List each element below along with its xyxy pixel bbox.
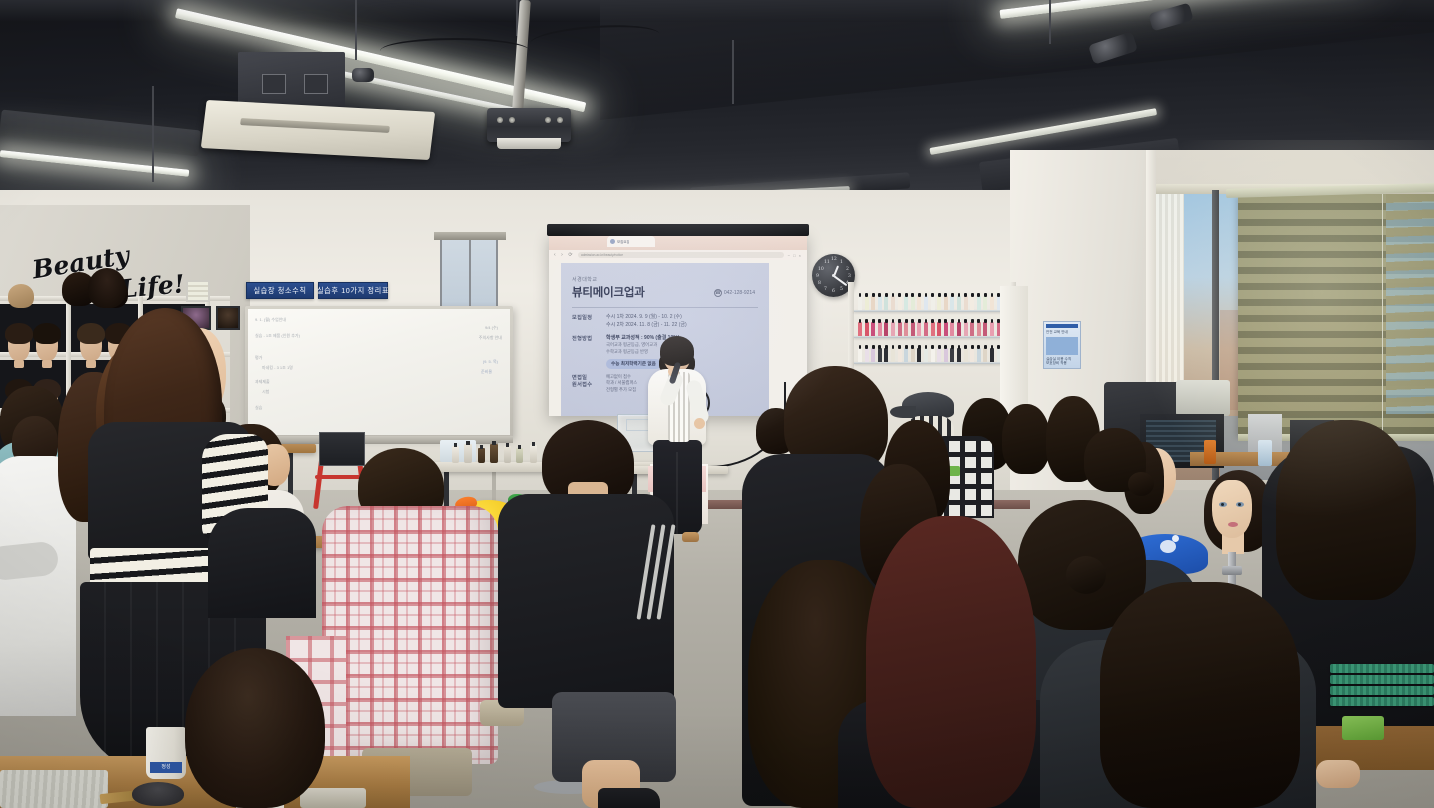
nail-polish-bottle <box>917 348 921 362</box>
forward-icon[interactable]: › <box>561 252 564 258</box>
clock-tick: 2 <box>846 267 849 272</box>
foreground-hand <box>1316 760 1360 788</box>
nail-polish-bottle <box>950 296 954 310</box>
nail-polish-bottle <box>858 348 862 362</box>
makeup-brush-head <box>132 782 184 806</box>
clock-tick: 6 <box>832 289 835 294</box>
foreground-hair-knot <box>1066 556 1106 594</box>
browser-tab-bar <box>549 234 807 250</box>
slide-row-key-line2: 원서접수 <box>572 382 592 388</box>
nail-polish-bottle <box>983 322 987 336</box>
favicon-icon <box>610 239 615 244</box>
mannequin-eye-right <box>1236 502 1244 507</box>
attendee-plaid-shirt-body <box>322 506 498 764</box>
nail-polish-bottle <box>858 322 862 336</box>
clock-tick: 10 <box>818 267 824 272</box>
clock-tick: 3 <box>848 274 851 279</box>
nail-polish-bottle <box>944 348 948 362</box>
nail-polish-bottle <box>865 296 869 310</box>
clock-tick: 7 <box>824 287 827 292</box>
nail-polish-bottle <box>924 296 928 310</box>
nail-polish-bottle <box>911 322 915 336</box>
projection-screen-frame <box>547 224 809 236</box>
nail-polish-bottle <box>931 348 935 362</box>
polish-panel-left <box>848 282 854 372</box>
equipment-white-box <box>1176 380 1230 416</box>
slide-university: 서경대학교 <box>572 276 758 283</box>
sign-text: 실습장 청소수칙 <box>253 286 306 296</box>
ceiling-hanger-2 <box>355 0 357 60</box>
reload-icon[interactable]: ⟳ <box>568 252 574 258</box>
nail-polish-bottle <box>898 296 902 310</box>
nail-polish-bottle <box>884 348 888 362</box>
mannequin-face <box>1212 480 1252 538</box>
browser-tab-label: 모집요강 <box>617 239 629 244</box>
nail-polish-bottle <box>937 348 941 362</box>
slide-row-key-line1: 면접일 <box>572 375 587 381</box>
nail-polish-bottle <box>898 348 902 362</box>
schedule-line-1: 수시 1차 2024. 9. 9 (월) - 10. 2 (수) <box>606 314 682 320</box>
clock-tick: 1 <box>840 260 843 265</box>
polish-shelf-3 <box>854 362 1010 364</box>
nail-polish-bottle <box>865 348 869 362</box>
nail-polish-bottle <box>957 322 961 336</box>
nail-polish-bottle <box>970 296 974 310</box>
nail-polish-bottle <box>891 322 895 336</box>
nail-polish-bottle <box>911 348 915 362</box>
nail-polish-bottle <box>871 348 875 362</box>
nail-polish-bottle <box>884 296 888 310</box>
roller-blind-slats <box>1386 194 1434 414</box>
nail-polish-bottle <box>957 348 961 362</box>
window-left-header <box>434 232 506 240</box>
presenter-shoe-right <box>682 532 699 542</box>
nail-polish-bottle <box>944 296 948 310</box>
nail-polish-bottle <box>937 322 941 336</box>
nail-polish-bottle <box>977 322 981 336</box>
poster-heading: 안전 교육 안내 <box>1046 330 1078 335</box>
folded-towel <box>0 770 108 808</box>
nail-polish-bottle <box>904 296 908 310</box>
nail-polish-bottle <box>871 296 875 310</box>
nail-polish-bottle <box>917 296 921 310</box>
sign-ten-point-checklist: 실습후 10가지 정리표 <box>318 282 388 299</box>
application-line-3: 전형별 추가 모집 <box>606 387 637 394</box>
clock-minute-hand <box>833 275 847 286</box>
nail-polish-bottle <box>904 348 908 362</box>
ceiling-hanger-4 <box>732 40 734 104</box>
nail-polish-bottle <box>878 322 882 336</box>
clock-tick: 12 <box>831 257 837 262</box>
attendee-far-right-hair <box>1276 420 1416 600</box>
schedule-line-2: 수시 2차 2024. 11. 8 (금) - 11. 22 (금) <box>606 322 687 328</box>
clock-tick: 5 <box>840 287 843 292</box>
orange-bottle <box>1204 440 1216 464</box>
foreground-right-long-hair <box>1100 582 1300 808</box>
nail-polish-bottle <box>917 322 921 336</box>
nail-polish-bottle <box>977 296 981 310</box>
slide-row-schedule: 모집일정 수시 1차 2024. 9. 9 (월) - 10. 2 (수) 수시… <box>572 314 758 330</box>
clock-tick: 8 <box>818 281 821 286</box>
spray-bottle <box>1258 440 1272 466</box>
nail-polish-bottle <box>990 296 994 310</box>
nail-polish-bottle <box>970 322 974 336</box>
mannequin-lips <box>1228 522 1238 527</box>
nail-polish-bottle <box>884 322 888 336</box>
ceiling-hanger-1 <box>152 86 154 182</box>
nail-polish-bottle <box>924 322 928 336</box>
mannequin-eye-left <box>1219 502 1227 507</box>
projector-lens <box>497 138 561 149</box>
nail-polish-bottle <box>865 322 869 336</box>
slide-row-key: 전형방법 <box>572 335 606 369</box>
clock-tick: 11 <box>824 260 830 265</box>
poster-line2: 보호장비 착용 <box>1046 361 1078 366</box>
whiteboard-note: 주의사항 안내 <box>479 335 502 341</box>
foreground-tray <box>300 788 366 808</box>
foreground-head-front <box>185 648 325 808</box>
nail-polish-bottle <box>950 322 954 336</box>
attendee-center-black-top <box>496 420 676 808</box>
slide-row-key: 면접일 원서접수 <box>572 374 606 394</box>
poster-bar <box>1046 324 1078 328</box>
nail-polish-bottle <box>891 296 895 310</box>
presenter-hand-cable <box>694 418 705 429</box>
attendee-center-shoe <box>598 788 660 808</box>
foreground-head-auburn <box>866 516 1036 808</box>
slide-row-value: 예고없이 접수 학과 / 서울캠퍼스 전형별 추가 모집 <box>606 374 637 394</box>
ceiling-hanger-5 <box>1049 0 1051 44</box>
clock-tick: 9 <box>816 274 819 279</box>
nail-polish-bottle <box>931 296 935 310</box>
ceiling-cable-1 <box>380 38 530 64</box>
nail-polish-bottle <box>911 296 915 310</box>
nail-polish-bottle <box>858 296 862 310</box>
nail-polish-bottle <box>983 348 987 362</box>
attendee-plaid-shirt <box>322 448 502 778</box>
url-text[interactable]: admission.ac.kr/beauty/notice <box>578 252 784 258</box>
slide-phone-block: ☎ 042-128-9214 <box>714 289 755 297</box>
nail-polish-bottle <box>983 296 987 310</box>
phone-icon: ☎ <box>714 289 722 297</box>
green-paper <box>1342 716 1384 740</box>
back-icon[interactable]: ‹ <box>554 252 557 258</box>
nail-polish-bottle <box>924 348 928 362</box>
nail-polish-bottle <box>964 348 968 362</box>
slide-divider <box>572 307 758 308</box>
blind-cord[interactable] <box>1382 194 1383 444</box>
nail-polish-bottle <box>891 348 895 362</box>
sign-text: 실습후 10가지 정리표 <box>317 286 389 296</box>
classroom-scene: Beauty Life! <box>0 0 1434 808</box>
mannequin-stand-clamp <box>1222 566 1242 575</box>
wig-head-top-3 <box>8 284 34 308</box>
stacked-green-mats <box>1330 664 1434 706</box>
nail-polish-bottle <box>990 322 994 336</box>
nail-polish-bottle <box>878 348 882 362</box>
nail-polish-bottle <box>944 322 948 336</box>
nail-polish-bottle <box>878 296 882 310</box>
clock-center <box>832 274 835 277</box>
window-controls[interactable]: − □ × <box>788 253 802 258</box>
nail-polish-bottle <box>871 322 875 336</box>
cap-strap-hole <box>1160 540 1176 553</box>
polish-shelf-1 <box>854 310 1010 312</box>
whiteboard-note: (9. 5. 목) <box>483 359 498 365</box>
paper-cup-label: 정성 <box>150 762 182 773</box>
nail-polish-bottle <box>957 296 961 310</box>
attendee-center-top <box>498 494 674 708</box>
slide-phone-number: 042-128-9214 <box>724 290 755 296</box>
nail-polish-bottle <box>904 322 908 336</box>
whiteboard-note: 준비물 <box>481 369 492 375</box>
nail-polish-bottle <box>950 348 954 362</box>
nail-polish-bottle <box>931 322 935 336</box>
nail-polish-bottle <box>964 296 968 310</box>
track-spotlight-4 <box>352 68 374 82</box>
safety-poster: 안전 교육 안내 실습실 이용 수칙 보호장비 착용 <box>1043 321 1081 369</box>
poster-image <box>1046 337 1078 355</box>
framed-chart <box>186 280 210 302</box>
browser-address-bar[interactable]: ‹ › ⟳ admission.ac.kr/beauty/notice − □ … <box>549 250 807 260</box>
browser-tab[interactable]: 모집요강 <box>607 236 655 247</box>
ceiling-projector <box>487 108 571 142</box>
sign-cleanup-rules: 실습장 청소수칙 <box>246 282 314 299</box>
slide-row-value: 수시 1차 2024. 9. 9 (월) - 10. 2 (수) 수시 2차 2… <box>606 314 687 330</box>
slide-row-key: 모집일정 <box>572 314 606 330</box>
nail-polish-bottle <box>937 296 941 310</box>
cap-button <box>1172 535 1179 542</box>
nail-polish-display <box>854 288 1010 366</box>
nail-polish-bottle <box>977 348 981 362</box>
nail-polish-bottle <box>970 348 974 362</box>
nail-polish-bottle <box>964 322 968 336</box>
nail-polish-bottle <box>898 322 902 336</box>
nail-polish-bottle <box>990 348 994 362</box>
whiteboard-note: 9/4 (수) <box>485 325 498 331</box>
polish-shelf-2 <box>854 336 1010 338</box>
mannequin-head <box>8 327 30 361</box>
